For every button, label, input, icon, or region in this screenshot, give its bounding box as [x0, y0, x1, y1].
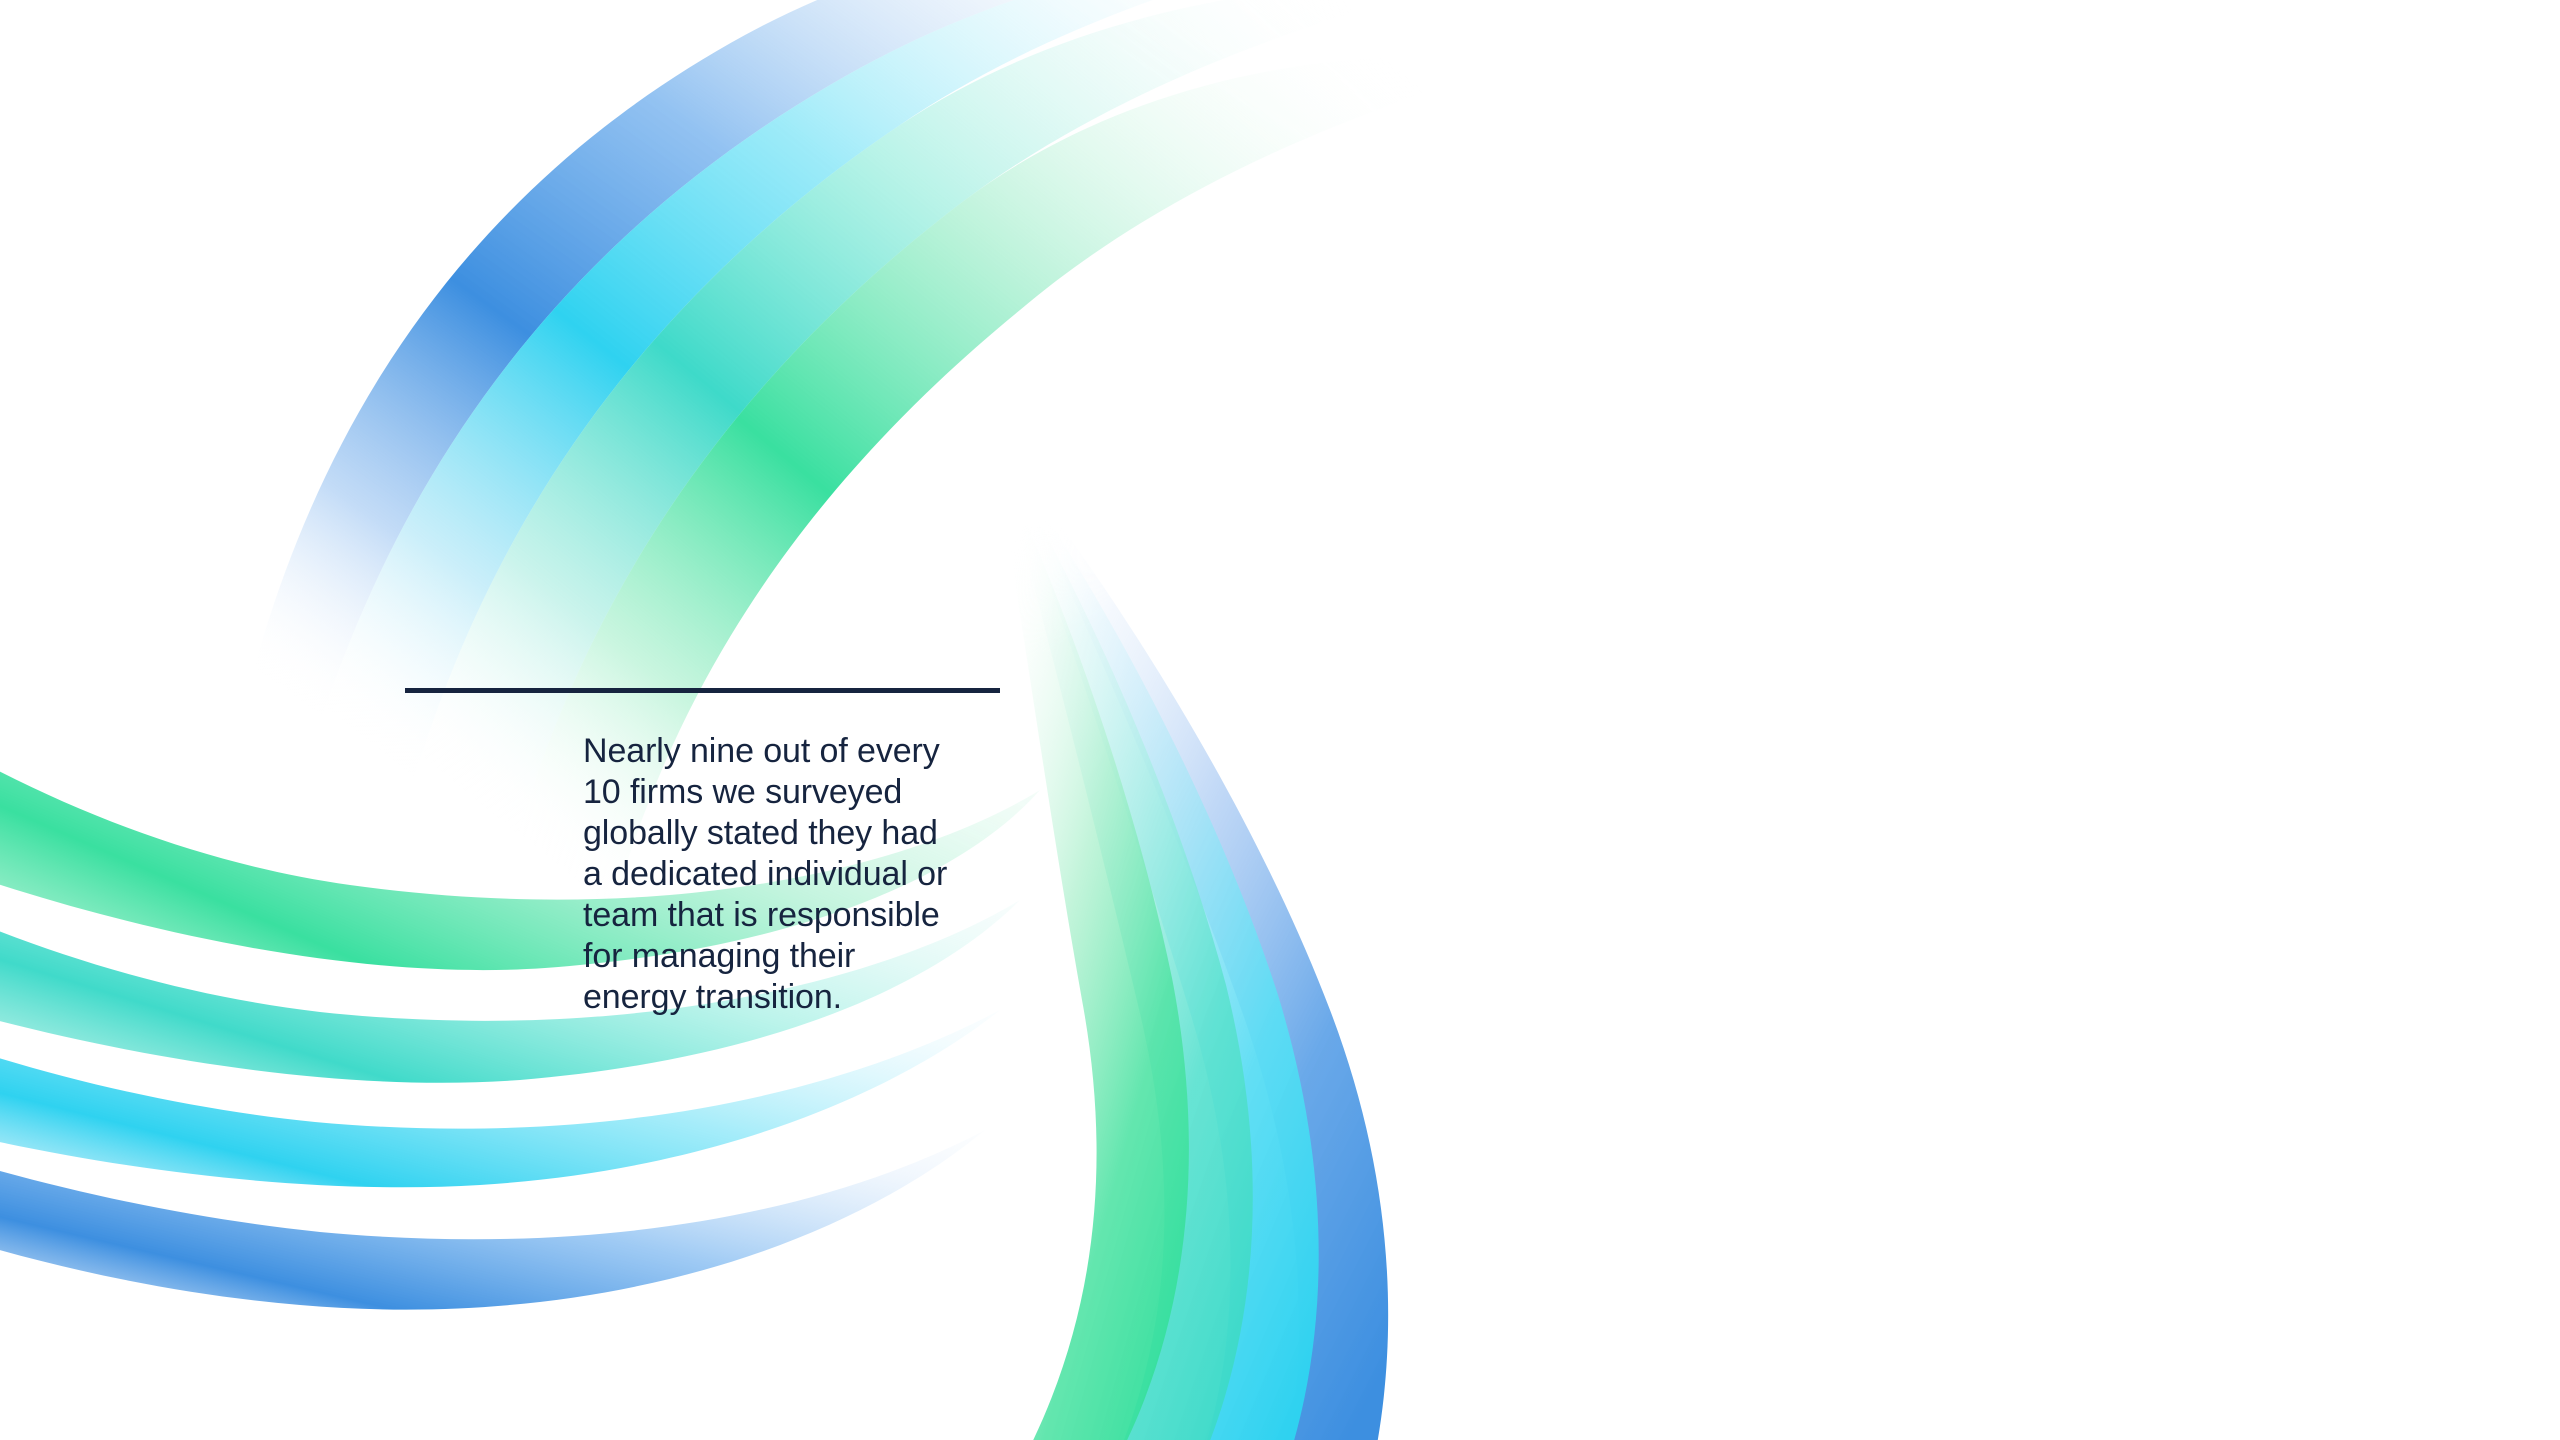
slide-canvas: Nearly nine out of every 10 firms we sur…: [0, 0, 2560, 1440]
top-left-band-blue: [232, 0, 1420, 790]
right-band-teal: [998, 450, 1253, 1440]
right-band-cyan: [1003, 452, 1319, 1440]
quote-body-text: Nearly nine out of every 10 firms we sur…: [405, 731, 1005, 1018]
right-band-green: [992, 448, 1189, 1440]
bottom-left-band-blue: [0, 1010, 985, 1310]
swirl-artwork: [0, 0, 2560, 1440]
right-band-blue: [1008, 455, 1388, 1440]
quote-divider-rule: [405, 688, 1000, 693]
quote-block: Nearly nine out of every 10 firms we sur…: [405, 688, 1005, 1018]
right-arm: [992, 448, 1388, 1440]
